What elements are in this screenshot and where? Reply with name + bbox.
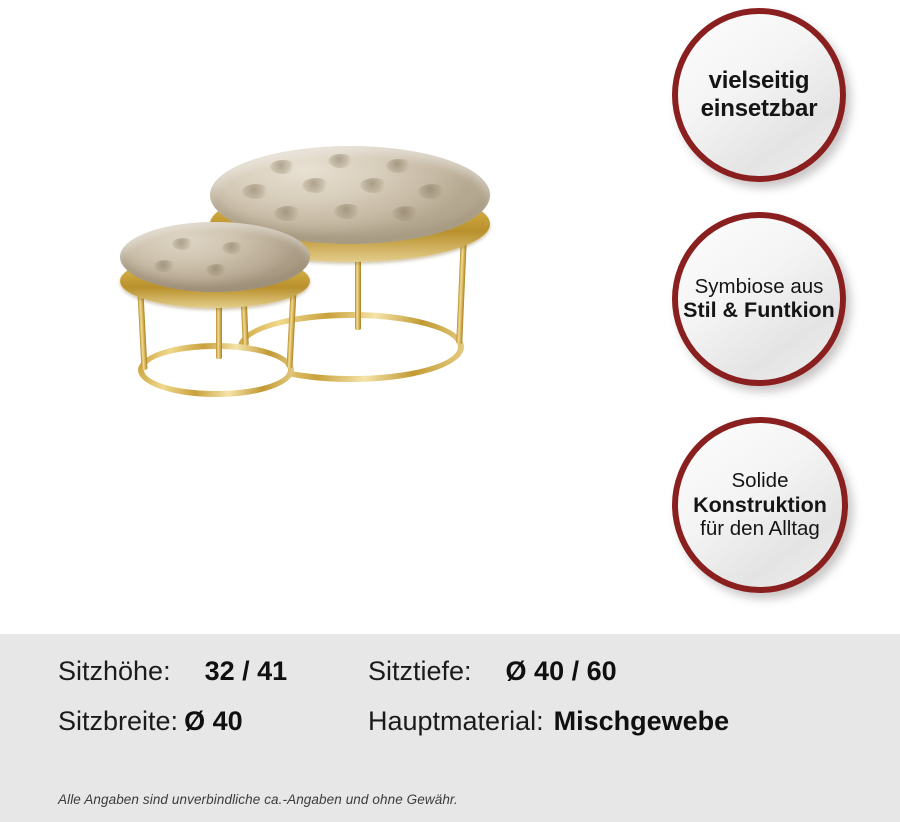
construction-badge: Solide Konstruktion für den Alltag bbox=[672, 417, 848, 593]
badge-line: für den Alltag bbox=[683, 517, 837, 541]
badge-line: Solide bbox=[683, 469, 837, 493]
tuft-button bbox=[242, 184, 270, 199]
badge-line: Konstruktion bbox=[683, 493, 837, 518]
tuft-button bbox=[386, 159, 412, 173]
badge-line: einsetzbar bbox=[683, 95, 835, 123]
badge-line: Stil & Funtkion bbox=[683, 298, 835, 323]
spec-seat-depth: Sitztiefe: Ø 40 / 60 bbox=[368, 656, 798, 687]
product-photo bbox=[120, 140, 520, 440]
spec-label: Sitzhöhe: bbox=[58, 656, 171, 687]
disclaimer-text: Alle Angaben sind unverbindliche ca.-Ang… bbox=[58, 792, 458, 807]
tuft-button bbox=[154, 260, 176, 272]
tuft-button bbox=[302, 178, 330, 193]
product-marketing-image: vielseitig einsetzbar Symbiose aus Stil … bbox=[0, 0, 900, 822]
spec-label: Hauptmaterial: bbox=[368, 706, 544, 737]
spec-row: Sitzbreite: Ø 40 Hauptmaterial: Mischgew… bbox=[58, 706, 848, 756]
spec-value: Ø 40 bbox=[184, 706, 243, 737]
badge-line: vielseitig bbox=[683, 67, 835, 95]
spec-main-material: Hauptmaterial: Mischgewebe bbox=[368, 706, 798, 737]
tuft-button bbox=[270, 160, 296, 174]
badge-line: Symbiose aus bbox=[683, 275, 835, 299]
spec-row: Sitzhöhe: 32 / 41 Sitztiefe: Ø 40 / 60 bbox=[58, 656, 848, 706]
spec-value: Mischgewebe bbox=[554, 706, 730, 737]
spec-value: Ø 40 / 60 bbox=[506, 656, 617, 687]
hero-area: vielseitig einsetzbar Symbiose aus Stil … bbox=[0, 0, 900, 634]
versatility-badge: vielseitig einsetzbar bbox=[672, 8, 846, 182]
spec-seat-height: Sitzhöhe: 32 / 41 bbox=[58, 656, 368, 687]
tuft-button bbox=[418, 184, 446, 199]
tuft-button bbox=[172, 238, 194, 250]
tuft-button bbox=[360, 178, 388, 193]
small-stool-cushion bbox=[120, 222, 310, 292]
tuft-button bbox=[206, 264, 228, 276]
small-stool bbox=[120, 218, 310, 418]
style-function-badge: Symbiose aus Stil & Funtkion bbox=[672, 212, 846, 386]
spec-seat-width: Sitzbreite: Ø 40 bbox=[58, 706, 368, 737]
tuft-button bbox=[328, 154, 354, 168]
tuft-button bbox=[392, 206, 420, 221]
tuft-button bbox=[334, 204, 362, 219]
spec-value: 32 / 41 bbox=[205, 656, 288, 687]
specification-grid: Sitzhöhe: 32 / 41 Sitztiefe: Ø 40 / 60 S… bbox=[58, 656, 848, 756]
spec-label: Sitztiefe: bbox=[368, 656, 472, 687]
spec-label: Sitzbreite: bbox=[58, 706, 178, 737]
specification-panel: Sitzhöhe: 32 / 41 Sitztiefe: Ø 40 / 60 S… bbox=[0, 634, 900, 822]
tuft-button bbox=[222, 242, 244, 254]
